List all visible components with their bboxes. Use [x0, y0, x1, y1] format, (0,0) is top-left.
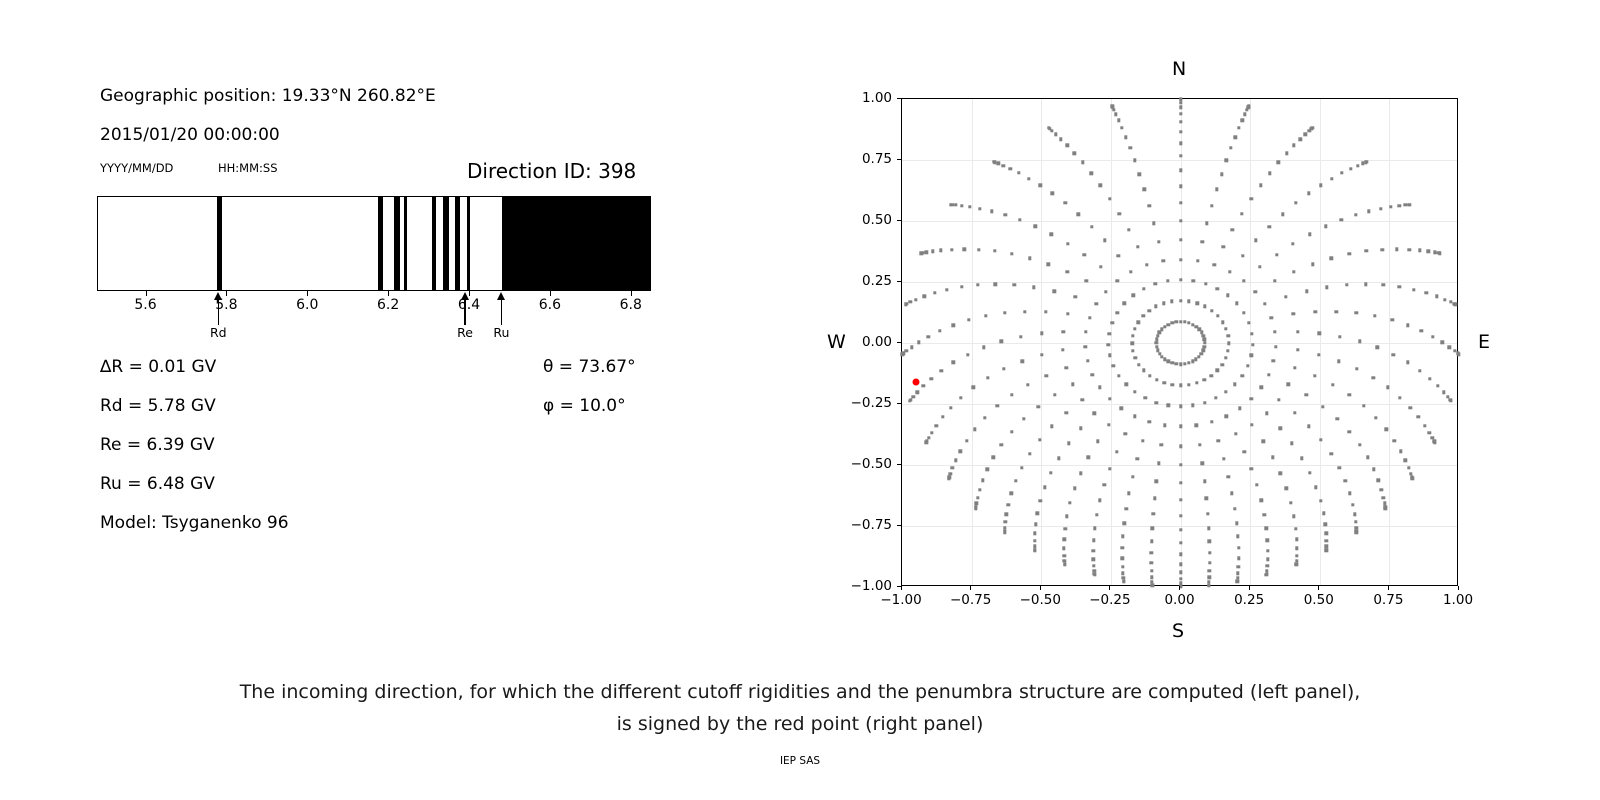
scatter-point: [1287, 383, 1290, 386]
x-axis-tick: [970, 586, 971, 590]
scatter-point: [1408, 203, 1411, 206]
scatter-point: [1074, 295, 1077, 298]
scatter-point: [1018, 218, 1021, 221]
scatter-point: [925, 441, 928, 444]
scatter-point: [1066, 270, 1069, 273]
scatter-point: [1117, 374, 1120, 377]
scatter-point: [1179, 299, 1182, 302]
x-axis-tick-label: −0.50: [1020, 592, 1061, 608]
scatter-point: [1356, 164, 1359, 167]
scatter-point: [922, 384, 925, 387]
x-axis-tick: [1040, 586, 1041, 590]
scatter-point: [985, 468, 988, 471]
scatter-point: [1431, 335, 1434, 338]
scatter-point: [1124, 135, 1127, 138]
scatter-point: [1348, 393, 1351, 396]
scatter-point: [1088, 316, 1091, 319]
scatter-point: [1151, 584, 1154, 587]
scatter-point: [1136, 457, 1139, 460]
gridline-horizontal: [902, 160, 1457, 161]
scatter-point: [1354, 311, 1357, 314]
scatter-point: [1131, 334, 1134, 337]
scatter-point: [910, 346, 913, 349]
scatter-point: [959, 449, 962, 452]
scatter-point: [1050, 233, 1053, 236]
scatter-point: [1124, 507, 1127, 510]
scatter-point: [1293, 411, 1296, 414]
scatter-point: [1337, 360, 1340, 363]
scatter-point: [949, 203, 952, 206]
scatter-point: [1259, 499, 1262, 502]
scatter-point: [1295, 547, 1298, 550]
scatter-point: [1198, 443, 1201, 446]
scatter-point: [1179, 238, 1182, 241]
scatter-point: [1133, 327, 1136, 330]
scatter-point: [1354, 520, 1357, 523]
scatter-point: [977, 248, 980, 251]
scatter-point: [1222, 245, 1225, 248]
scatter-point: [1330, 452, 1333, 455]
scatter-point: [1294, 201, 1297, 204]
scatter-point: [1123, 432, 1126, 435]
scatter-point: [1167, 360, 1170, 363]
x-axis-tick: [901, 586, 902, 590]
scatter-point: [1397, 204, 1400, 207]
scatter-point: [1339, 218, 1342, 221]
scatter-point: [1268, 171, 1271, 174]
scatter-point: [1220, 173, 1223, 176]
scatter-point: [1355, 367, 1358, 370]
scatter-point: [1216, 287, 1219, 290]
scatter-point: [1216, 439, 1219, 442]
scatter-point: [1167, 404, 1170, 407]
scatter-point: [1095, 513, 1098, 516]
scatter-point: [1022, 417, 1025, 420]
scatter-point: [1004, 520, 1007, 523]
scatter-point: [1367, 210, 1370, 213]
scatter-point: [1237, 565, 1240, 568]
scatter-point: [1194, 358, 1197, 361]
scatter-point: [997, 162, 1000, 165]
scatter-point: [1081, 161, 1084, 164]
scatter-point: [1187, 361, 1190, 364]
scatter-point: [1179, 219, 1182, 222]
scatter-point: [1214, 396, 1217, 399]
scatter-point: [1081, 398, 1084, 401]
scatter-point: [1292, 144, 1295, 147]
scatter-point: [1121, 565, 1124, 568]
scatter-point: [976, 283, 979, 286]
scatter-point: [1170, 383, 1173, 386]
scatter-point: [1128, 146, 1131, 149]
scatter-point: [1237, 546, 1240, 549]
scatter-point: [1251, 343, 1254, 346]
scatter-point: [1064, 201, 1067, 204]
scatter-point: [1148, 420, 1151, 423]
scatter-point: [1266, 564, 1269, 567]
scatter-point: [1150, 576, 1153, 579]
scatter-point: [1344, 479, 1347, 482]
scatter-point: [1385, 428, 1388, 431]
scatter-point: [1270, 316, 1273, 319]
scatter-point: [1152, 222, 1155, 225]
scatter-point: [1137, 320, 1140, 323]
scatter-point: [1019, 335, 1022, 338]
scatter-point: [963, 247, 966, 250]
scatter-point: [1183, 362, 1186, 365]
scatter-point: [1062, 330, 1065, 333]
scatter-point: [920, 252, 923, 255]
scatter-point: [1087, 456, 1090, 459]
scatter-point: [1304, 133, 1307, 136]
scatter-point: [1407, 466, 1410, 469]
scatter-point: [1153, 496, 1156, 499]
scatter-point: [901, 352, 904, 355]
scatter-point: [1380, 248, 1383, 251]
scatter-point: [1236, 572, 1239, 575]
scatter-point: [1171, 361, 1174, 364]
scatter-point: [1210, 420, 1213, 423]
scatter-point: [1040, 353, 1043, 356]
scatter-point: [968, 205, 971, 208]
scatter-point: [1331, 383, 1334, 386]
scatter-point: [1292, 515, 1295, 518]
scatter-point: [967, 318, 970, 321]
scatter-point: [982, 346, 985, 349]
scatter-point: [1067, 442, 1070, 445]
scatter-point: [1195, 424, 1198, 427]
scatter-point: [1158, 331, 1161, 334]
scatter-point: [1285, 152, 1288, 155]
scatter-point: [1123, 302, 1126, 305]
scatter-point: [1156, 349, 1159, 352]
scatter-point: [1201, 240, 1204, 243]
scatter-point: [1053, 393, 1056, 396]
scatter-point: [984, 314, 987, 317]
scatter-point: [1026, 383, 1029, 386]
scatter-point: [976, 496, 979, 499]
scatter-point: [1010, 393, 1013, 396]
scatter-point: [1258, 265, 1261, 268]
scatter-point: [978, 207, 981, 210]
scatter-point: [1279, 471, 1282, 474]
scatter-point: [1179, 384, 1182, 387]
scatter-point: [1196, 302, 1199, 305]
scatter-point: [1418, 249, 1421, 252]
scatter-point: [1240, 212, 1243, 215]
scatter-point: [1321, 405, 1324, 408]
scatter-point: [1454, 302, 1457, 305]
scatter-point: [1033, 539, 1036, 542]
scatter-point: [1003, 530, 1006, 533]
scatter-point: [1084, 330, 1087, 333]
scatter-point: [1049, 471, 1052, 474]
scatter-point: [1191, 404, 1194, 407]
scatter-point: [939, 249, 942, 252]
scatter-point: [1065, 366, 1068, 369]
x-axis-tick: [1388, 586, 1389, 590]
scatter-point: [1147, 309, 1150, 312]
scatter-point: [1039, 184, 1042, 187]
scatter-point: [909, 300, 912, 303]
scatter-point: [1420, 329, 1423, 332]
scatter-point: [1238, 407, 1241, 410]
scatter-point: [1179, 169, 1182, 172]
gridline-horizontal: [902, 282, 1457, 283]
y-axis-tick-label: 0.00: [862, 334, 892, 350]
scatter-point: [1241, 254, 1244, 257]
scatter-point: [1428, 431, 1431, 434]
scatter-point: [1062, 547, 1065, 550]
scatter-point: [954, 203, 957, 206]
scatter-point: [1065, 515, 1068, 518]
scatter-point: [994, 282, 997, 285]
scatter-point: [1043, 486, 1046, 489]
scatter-point: [1374, 416, 1377, 419]
x-axis-tick: [1318, 586, 1319, 590]
scatter-point: [1130, 342, 1133, 345]
scatter-point: [1099, 265, 1102, 268]
scatter-point: [1179, 184, 1182, 187]
scatter-point: [1372, 468, 1375, 471]
scatter-point: [1047, 126, 1050, 129]
scatter-point: [1179, 498, 1182, 501]
scatter-point: [1095, 302, 1098, 305]
scatter-point: [1047, 263, 1050, 266]
scatter-point: [1187, 383, 1190, 386]
scatter-point: [1117, 119, 1120, 122]
scatter-point: [1274, 345, 1277, 348]
scatter-point: [1307, 425, 1310, 428]
scatter-point: [1179, 130, 1182, 133]
scatter-point: [951, 466, 954, 469]
scatter-point: [1448, 346, 1451, 349]
scatter-point: [1009, 167, 1012, 170]
scatter-point: [952, 361, 955, 364]
scatter-point: [1213, 263, 1216, 266]
scatter-point: [1014, 479, 1017, 482]
scatter-point: [1065, 411, 1068, 414]
scatter-point: [1121, 535, 1124, 538]
scatter-point: [923, 295, 926, 298]
scatter-point: [1155, 378, 1158, 381]
scatter-point: [1317, 353, 1320, 356]
scatter-point: [1086, 359, 1089, 362]
scatter-point: [1265, 527, 1268, 530]
scatter-point: [1347, 252, 1350, 255]
scatter-point: [1364, 282, 1367, 285]
scatter-point: [960, 204, 963, 207]
scatter-point: [1092, 558, 1095, 561]
compass-west-label: W: [827, 331, 846, 353]
scatter-point: [1092, 538, 1095, 541]
scatter-point: [1263, 513, 1266, 516]
scatter-point: [1290, 442, 1293, 445]
scatter-point: [1266, 558, 1269, 561]
scatter-point: [1237, 556, 1240, 559]
scatter-point: [1366, 456, 1369, 459]
scatter-point: [1045, 374, 1048, 377]
scatter-point: [1092, 564, 1095, 567]
scatter-point: [1112, 364, 1115, 367]
scatter-point: [1227, 342, 1230, 345]
scatter-point: [1160, 443, 1163, 446]
scatter-point: [1179, 258, 1182, 261]
scatter-point: [1230, 491, 1233, 494]
scatter-point: [1155, 345, 1158, 348]
y-axis-tick-label: 0.50: [862, 212, 892, 228]
scatter-point: [1062, 554, 1065, 557]
scatter-point: [1354, 213, 1357, 216]
scatter-point: [1225, 159, 1228, 162]
scatter-point: [992, 160, 995, 163]
scatter-point: [1406, 323, 1409, 326]
gridline-vertical: [1041, 99, 1042, 585]
scatter-point: [1073, 152, 1076, 155]
scatter-point: [1236, 535, 1239, 538]
scatter-point: [959, 396, 962, 399]
scatter-point: [1179, 106, 1182, 109]
scatter-point: [1226, 294, 1229, 297]
gridline-horizontal: [902, 526, 1457, 527]
scatter-point: [1066, 242, 1069, 245]
scatter-point: [1063, 527, 1066, 530]
scatter-point: [1179, 404, 1182, 407]
scatter-point: [1443, 298, 1446, 301]
scatter-point: [1442, 390, 1445, 393]
scatter-point: [1295, 554, 1298, 557]
scatter-point: [1412, 288, 1415, 291]
scatter-point: [1438, 252, 1441, 255]
scatter-point: [1034, 225, 1037, 228]
scatter-point: [1436, 384, 1439, 387]
scatter-point: [1000, 443, 1003, 446]
gridline-vertical: [1389, 99, 1390, 585]
scatter-point: [1268, 225, 1271, 228]
scatter-point: [1247, 321, 1250, 324]
scatter-point: [1392, 353, 1395, 356]
scatter-point: [908, 399, 911, 402]
scatter-point: [1216, 314, 1219, 317]
scatter-point: [904, 302, 907, 305]
scatter-point: [1203, 401, 1206, 404]
scatter-point: [1038, 438, 1041, 441]
scatter-point: [1114, 112, 1117, 115]
scatter-point: [1065, 144, 1068, 147]
scatter-point: [974, 506, 977, 509]
scatter-point: [1273, 330, 1276, 333]
scatter-point: [1179, 577, 1182, 580]
scatter-point: [1133, 414, 1136, 417]
scatter-point: [1243, 112, 1246, 115]
scatter-point: [1137, 363, 1140, 366]
scatter-point: [952, 323, 955, 326]
scatter-point: [1142, 287, 1145, 290]
scatter-point: [1079, 471, 1082, 474]
scatter-point: [1250, 332, 1253, 335]
scatter-point: [1296, 330, 1299, 333]
scatter-point: [1322, 511, 1325, 514]
scatter-point: [1393, 439, 1396, 442]
y-axis-tick-label: 0.25: [862, 273, 892, 289]
scatter-point: [1179, 444, 1182, 447]
right-panel: N S E W −1.00−0.75−0.50−0.250.000.250.50…: [0, 0, 1600, 660]
scatter-point: [1325, 549, 1328, 552]
scatter-point: [1063, 563, 1066, 566]
compass-north-label: N: [1172, 58, 1186, 80]
scatter-point: [1155, 338, 1158, 341]
scatter-point: [1179, 154, 1182, 157]
scatter-point: [1093, 573, 1096, 576]
scatter-point: [1034, 522, 1037, 525]
scatter-point: [1084, 345, 1087, 348]
scatter-point: [965, 439, 968, 442]
scatter-point: [1391, 318, 1394, 321]
scatter-point: [1157, 240, 1160, 243]
scatter-point: [1120, 407, 1123, 410]
scatter-point: [1083, 253, 1086, 256]
scatter-point: [1179, 320, 1182, 323]
scatter-point: [1340, 171, 1343, 174]
scatter-point: [993, 249, 996, 252]
scatter-point: [954, 459, 957, 462]
scatter-point: [1111, 105, 1114, 108]
scatter-point: [1028, 257, 1031, 260]
scatter-point: [935, 424, 938, 427]
scatter-point: [1145, 263, 1148, 266]
scatter-point: [1249, 197, 1252, 200]
scatter-point: [1205, 496, 1208, 499]
scatter-point: [1365, 160, 1368, 163]
scatter-point: [1294, 527, 1297, 530]
scatter-point: [1325, 539, 1328, 542]
scatter-point: [1111, 321, 1114, 324]
x-axis-tick: [1249, 586, 1250, 590]
scatter-point: [1399, 449, 1402, 452]
scatter-point: [1427, 250, 1430, 253]
scatter-point: [938, 329, 941, 332]
scatter-point: [1093, 527, 1096, 530]
scatter-point: [1233, 383, 1236, 386]
scatter-point: [1237, 126, 1240, 129]
scatter-point: [1228, 270, 1231, 273]
scatter-point: [1150, 540, 1153, 543]
scatter-point: [1134, 356, 1137, 359]
scatter-point: [1000, 340, 1003, 343]
scatter-point: [1457, 352, 1460, 355]
scatter-point: [1250, 397, 1253, 400]
scatter-point: [1179, 120, 1182, 123]
scatter-point: [960, 285, 963, 288]
scatter-point: [1384, 506, 1387, 509]
scatter-point: [1314, 486, 1317, 489]
scatter-point: [1227, 334, 1230, 337]
scatter-point: [1201, 462, 1204, 465]
scatter-point: [1033, 532, 1036, 535]
x-axis-tick-label: −0.75: [950, 592, 991, 608]
scatter-point: [1131, 349, 1134, 352]
scatter-point: [1116, 311, 1119, 314]
scatter-point: [1037, 405, 1040, 408]
scatter-point: [1351, 503, 1354, 506]
scatter-point: [1233, 507, 1236, 510]
scatter-point: [1222, 457, 1225, 460]
scatter-point: [1059, 137, 1062, 140]
scatter-point: [1254, 290, 1257, 293]
scatter-point: [1210, 374, 1213, 377]
scatter-point: [1305, 289, 1308, 292]
scatter-point: [1003, 311, 1006, 314]
